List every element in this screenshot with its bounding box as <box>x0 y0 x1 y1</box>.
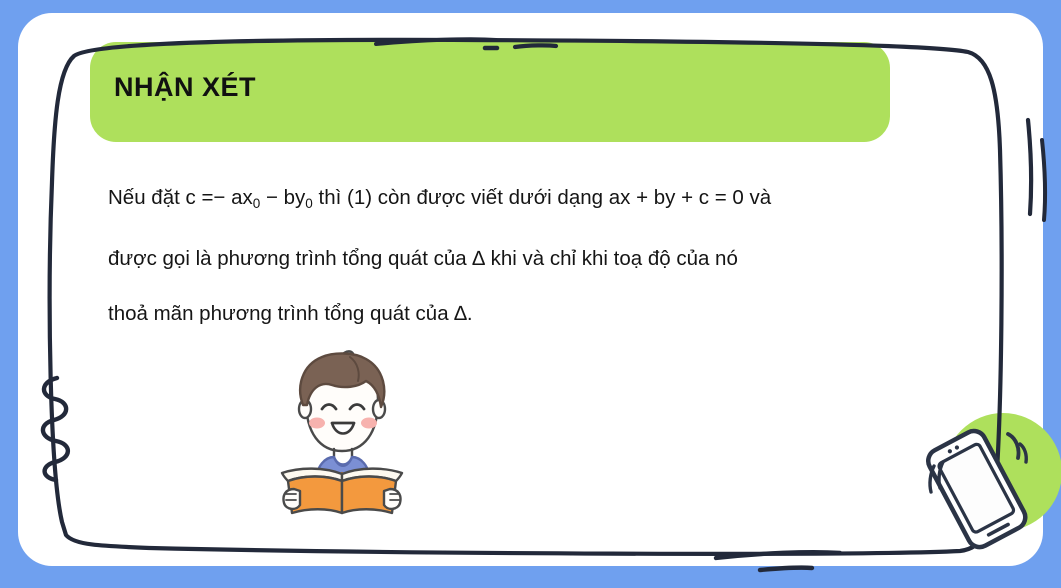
body-paragraph: Nếu đặt c =− ax0 − by0 thì (1) còn được … <box>108 170 988 341</box>
bottom-dash-short <box>760 568 812 570</box>
phone-illustration <box>912 412 1042 552</box>
body-line-1-b: − by <box>260 186 305 209</box>
subscript-zero-y: 0 <box>305 196 313 211</box>
title-banner: NHẬN XÉT <box>90 42 890 142</box>
boy-reading-illustration <box>262 343 422 515</box>
body-line-1: Nếu đặt c =− ax0 − by0 thì (1) còn được … <box>108 170 988 231</box>
body-line-2: được gọi là phương trình tổng quát của ∆… <box>108 231 988 286</box>
body-line-3: thoả mãn phương trình tổng quát của ∆. <box>108 286 988 341</box>
slide-root: NHẬN XÉT Nếu đặt c =− ax0 − by0 thì (1) … <box>0 0 1061 588</box>
body-line-1-c: thì (1) còn được viết dưới dạng ax + by … <box>313 186 771 209</box>
body-line-1-a: Nếu đặt c =− ax <box>108 186 253 209</box>
page-title: NHẬN XÉT <box>114 72 256 103</box>
